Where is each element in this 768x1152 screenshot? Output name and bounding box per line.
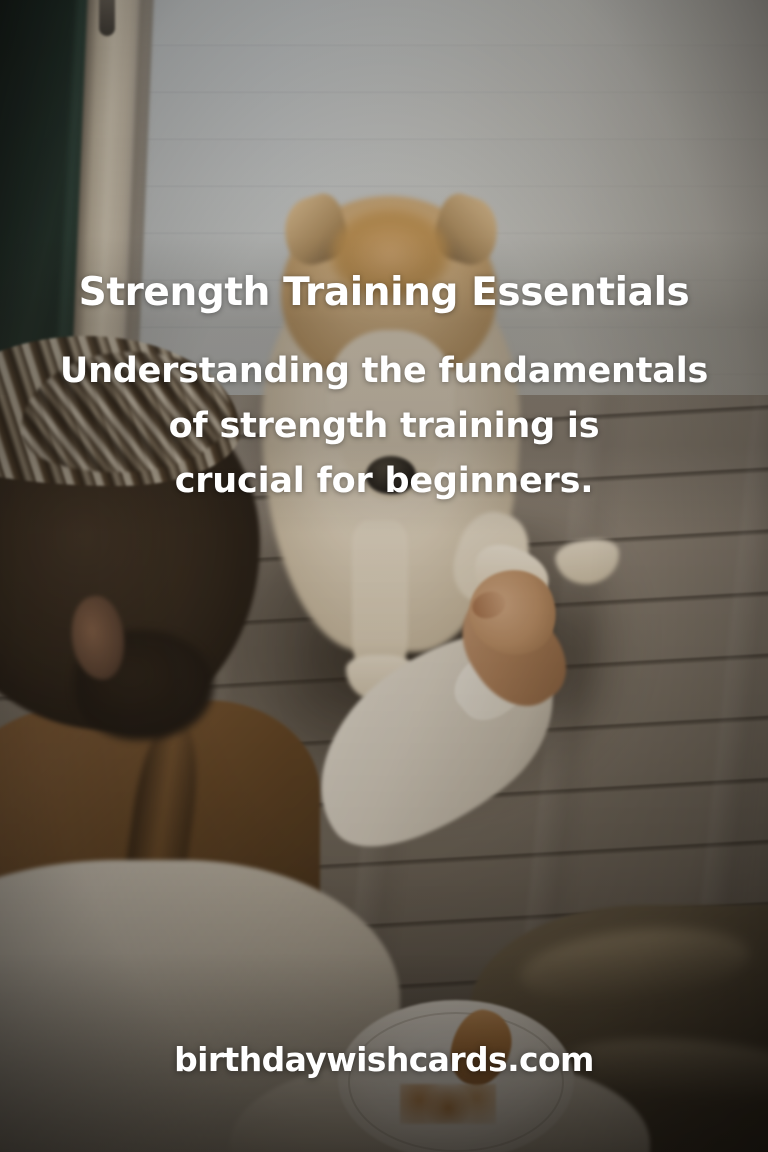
subheading-line-3: crucial for beginners. xyxy=(52,454,716,509)
page-title: Strength Training Essentials xyxy=(0,272,768,313)
subheading-line-1: Understanding the fundamentals xyxy=(52,344,716,399)
social-card: Strength Training Essentials Understandi… xyxy=(0,0,768,1152)
site-watermark: birthdaywishcards.com xyxy=(0,1040,768,1079)
subheading: Understanding the fundamentals of streng… xyxy=(0,344,768,509)
text-overlay: Strength Training Essentials Understandi… xyxy=(0,0,768,1152)
subheading-line-2: of strength training is xyxy=(52,399,716,454)
